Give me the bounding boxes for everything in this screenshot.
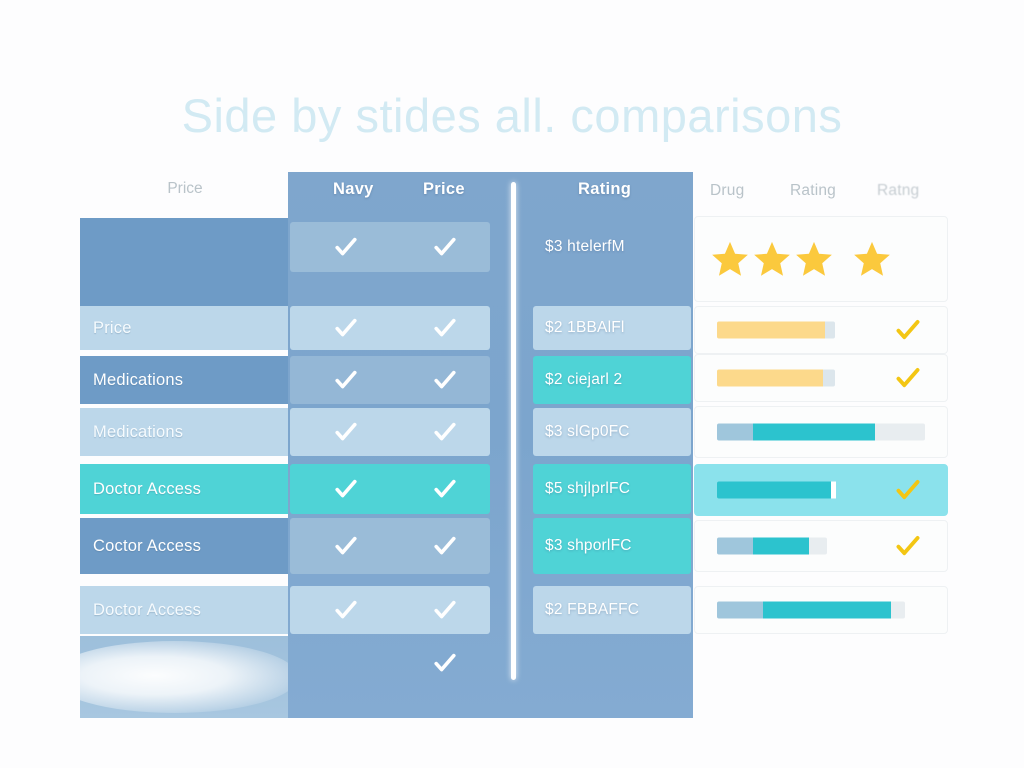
- comparison-middle-panel: NavyPriceRating$3 htelerfM$2 1BBAlFl$2 c…: [288, 172, 693, 718]
- check-icon: [895, 533, 921, 559]
- mid-check-row-4[interactable]: [290, 464, 490, 514]
- star-icon: [709, 238, 751, 280]
- mid-check-row-7[interactable]: [290, 636, 490, 690]
- left-row-glow[interactable]: [80, 636, 290, 718]
- progress-bar[interactable]: [717, 602, 905, 619]
- check-icon: [895, 477, 921, 503]
- check-icon: [334, 316, 358, 340]
- mid-price-row-0[interactable]: $3 htelerfM: [533, 222, 691, 272]
- price-value: $3 slGp0FC: [545, 423, 630, 441]
- progress-segment: [717, 602, 763, 619]
- right-header-2[interactable]: Ratng: [877, 182, 919, 200]
- mid-price-row-5[interactable]: $3 shporlFC: [533, 518, 691, 574]
- star-icon: [851, 238, 893, 280]
- star-rating[interactable]: [709, 238, 893, 280]
- left-column-header: Price: [80, 180, 290, 198]
- check-icon: [433, 316, 457, 340]
- check-icon: [334, 368, 358, 392]
- comparison-screen: Side by stides all. comparisons Price Pr…: [0, 0, 1024, 768]
- progress-segment: [825, 322, 835, 339]
- price-value: $2 1BBAlFl: [545, 319, 625, 337]
- mid-price-row-1[interactable]: $2 1BBAlFl: [533, 306, 691, 350]
- progress-segment: [717, 538, 753, 555]
- check-icon: [433, 420, 457, 444]
- progress-segment: [891, 602, 905, 619]
- progress-segment: [823, 370, 835, 387]
- check-icon: [433, 235, 457, 259]
- check-icon: [433, 534, 457, 558]
- rating-row-4[interactable]: [694, 464, 948, 516]
- mid-header-rating[interactable]: Rating: [578, 180, 631, 199]
- right-header-1[interactable]: Rating: [790, 182, 836, 200]
- price-value: $2 ciejarl 2: [545, 371, 622, 389]
- left-row-2[interactable]: Medications: [80, 356, 290, 404]
- progress-segment: [753, 424, 875, 441]
- progress-segment: [763, 602, 891, 619]
- price-value: $2 FBBAFFC: [545, 601, 639, 619]
- page-title: Side by stides all. comparisons: [0, 88, 1024, 143]
- progress-segment: [717, 424, 753, 441]
- mid-price-row-3[interactable]: $3 slGp0FC: [533, 408, 691, 456]
- check-icon: [334, 598, 358, 622]
- mid-check-row-5[interactable]: [290, 518, 490, 574]
- mid-price-row-2[interactable]: $2 ciejarl 2: [533, 356, 691, 404]
- progress-segment: [717, 322, 825, 339]
- progress-segment: [753, 538, 809, 555]
- rating-row-0[interactable]: [694, 216, 948, 302]
- star-icon: [751, 238, 793, 280]
- check-icon: [334, 534, 358, 558]
- rating-row-1[interactable]: [694, 306, 948, 354]
- left-row-3[interactable]: Medications: [80, 408, 290, 456]
- left-row-5[interactable]: Coctor Access: [80, 518, 290, 574]
- left-row-label: Price: [93, 319, 132, 338]
- left-row-0[interactable]: [80, 218, 290, 306]
- progress-bar[interactable]: [717, 482, 841, 499]
- check-icon: [433, 598, 457, 622]
- progress-segment: [717, 482, 831, 499]
- left-row-label: Doctor Access: [93, 601, 201, 620]
- progress-bar[interactable]: [717, 538, 827, 555]
- progress-segment: [809, 538, 827, 555]
- progress-segment: [717, 370, 823, 387]
- mid-header-navy[interactable]: Navy: [333, 180, 374, 199]
- check-icon: [433, 477, 457, 501]
- progress-segment: [836, 482, 841, 499]
- mid-check-row-3[interactable]: [290, 408, 490, 456]
- rating-row-2[interactable]: [694, 354, 948, 402]
- check-icon: [334, 420, 358, 444]
- left-row-4[interactable]: Doctor Access: [80, 464, 290, 514]
- mid-check-row-2[interactable]: [290, 356, 490, 404]
- mid-check-row-1[interactable]: [290, 306, 490, 350]
- check-icon: [433, 368, 457, 392]
- progress-bar[interactable]: [717, 424, 925, 441]
- left-row-label: Coctor Access: [93, 537, 201, 556]
- left-row-label: Medications: [93, 423, 183, 442]
- left-row-label: Medications: [93, 371, 183, 390]
- mid-check-row-6[interactable]: [290, 586, 490, 634]
- mid-price-row-6[interactable]: $2 FBBAFFC: [533, 586, 691, 634]
- left-row-label: Doctor Access: [93, 480, 201, 499]
- price-value: $3 shporlFC: [545, 537, 632, 555]
- mid-check-row-0[interactable]: [290, 222, 490, 272]
- rating-row-3[interactable]: [694, 406, 948, 458]
- left-row-6[interactable]: Doctor Access: [80, 586, 290, 634]
- price-value: $5 shjlprlFC: [545, 480, 630, 498]
- check-icon: [334, 235, 358, 259]
- vertical-divider: [511, 182, 516, 680]
- check-icon: [334, 477, 358, 501]
- left-label-column: PriceMedicationsMedicationsDoctor Access…: [80, 218, 290, 718]
- star-icon: [793, 238, 835, 280]
- check-icon: [895, 365, 921, 391]
- price-value: $3 htelerfM: [545, 238, 625, 256]
- left-row-1[interactable]: Price: [80, 306, 290, 350]
- rating-row-5[interactable]: [694, 520, 948, 572]
- ratings-right-panel: DrugRatingRatng: [694, 172, 948, 642]
- check-icon: [895, 317, 921, 343]
- mid-header-price[interactable]: Price: [423, 180, 465, 199]
- check-icon: [433, 651, 457, 675]
- progress-bar[interactable]: [717, 370, 835, 387]
- right-header-0[interactable]: Drug: [710, 182, 744, 200]
- progress-bar[interactable]: [717, 322, 835, 339]
- mid-price-row-4[interactable]: $5 shjlprlFC: [533, 464, 691, 514]
- progress-segment: [875, 424, 925, 441]
- rating-row-6[interactable]: [694, 586, 948, 634]
